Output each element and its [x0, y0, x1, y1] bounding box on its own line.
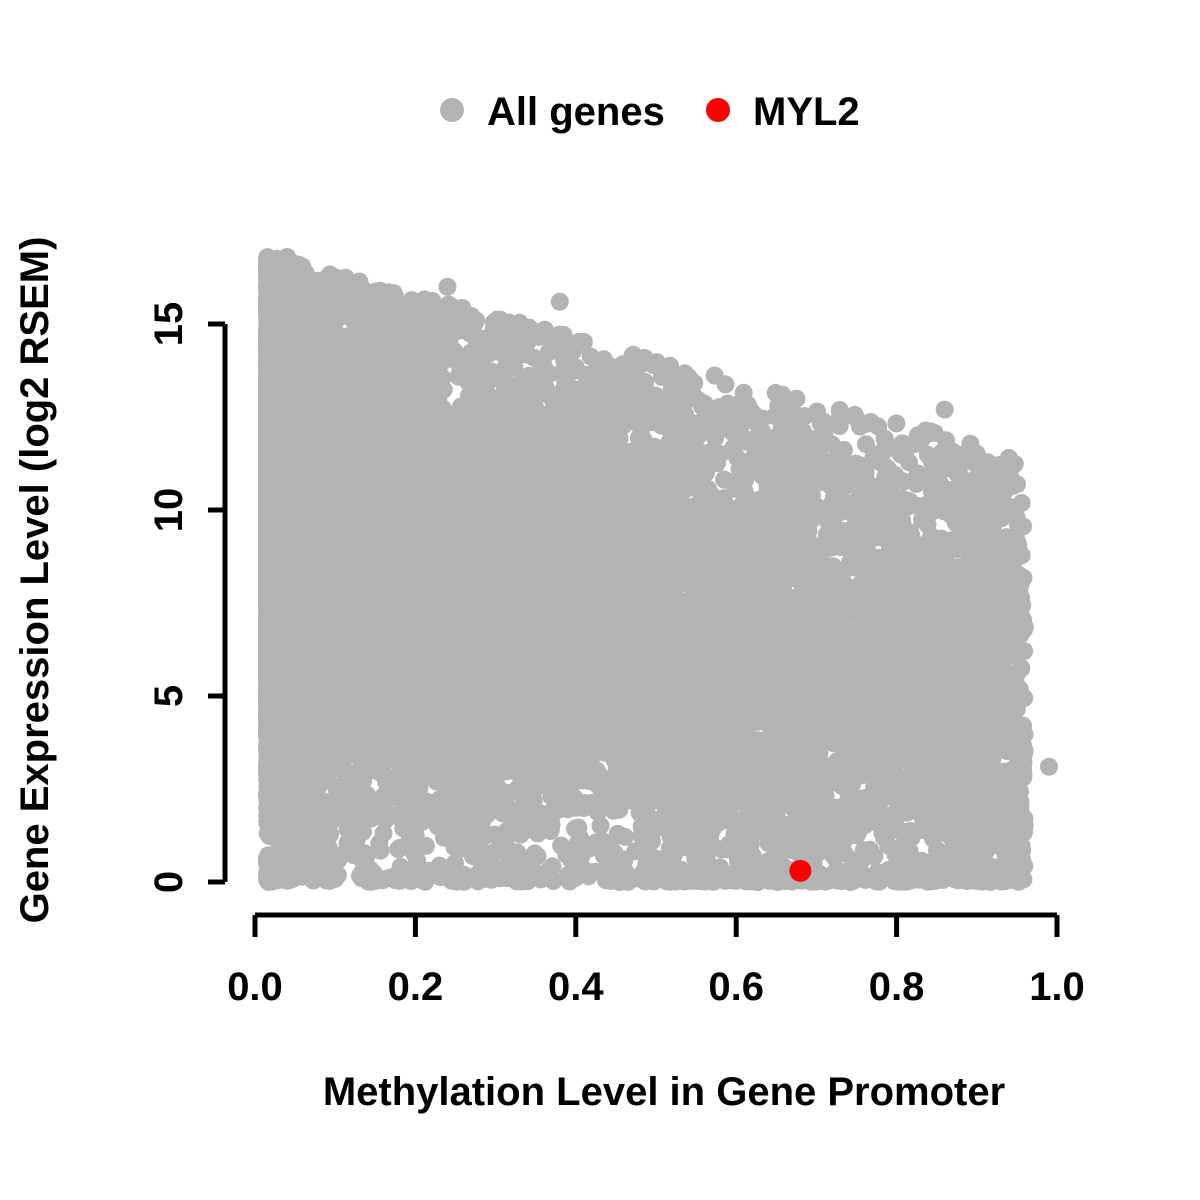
x-axis-title: Methylation Level in Gene Promoter [323, 1070, 1005, 1114]
scatter-plot-figure: 0.00.20.40.60.81.0 051015 Methylation Le… [0, 0, 1200, 1200]
y-axis-title: Gene Expression Level (log2 RSEM) [13, 237, 57, 924]
x-tick-label: 0.0 [227, 965, 283, 1009]
legend-label-all-genes[interactable]: All genes [487, 90, 665, 134]
x-tick-label: 0.8 [869, 965, 925, 1009]
x-tick-label: 0.2 [388, 965, 444, 1009]
legend-marker-myl2 [706, 98, 730, 122]
legend: All genes MYL2 [440, 90, 860, 134]
y-tick-label: 5 [147, 685, 191, 707]
x-tick-label: 0.6 [708, 965, 764, 1009]
legend-label-myl2[interactable]: MYL2 [753, 90, 860, 134]
legend-marker-all-genes [440, 98, 464, 122]
plot-canvas: 0.00.20.40.60.81.0 051015 Methylation Le… [0, 0, 1200, 1200]
x-tick-label: 0.4 [548, 965, 604, 1009]
series-myl2-point[interactable] [789, 860, 811, 882]
x-tick-label: 1.0 [1029, 965, 1085, 1009]
y-tick-label: 10 [147, 488, 191, 533]
y-tick-label: 0 [147, 871, 191, 893]
y-tick-label: 15 [147, 302, 191, 347]
